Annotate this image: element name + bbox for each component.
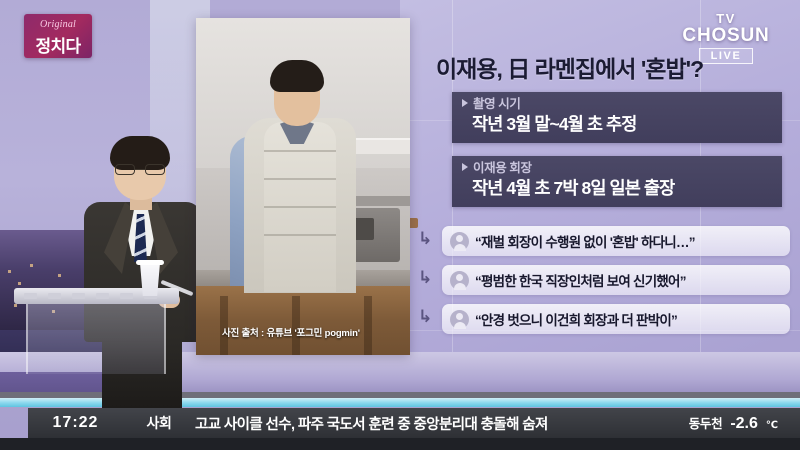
quote-row: ↳ “재벌 회장이 수행원 없이 '혼밥' 하다니…” <box>418 226 790 256</box>
news-photo-inset: 사진 출처 : 유튜브 '포그민 pogmin' <box>196 18 410 355</box>
photo-wood-counter <box>196 286 410 355</box>
weather-temperature: -2.6 <box>730 415 758 433</box>
weather-city: 동두천 <box>689 413 723 432</box>
arrow-down-right-icon: ↳ <box>418 230 434 248</box>
quote-row: ↳ “평범한 한국 직장인처럼 보여 신기했어” <box>418 265 790 295</box>
person-avatar-icon <box>450 310 469 329</box>
arrow-down-right-icon: ↳ <box>418 269 434 287</box>
quote-bubble: “안경 벗으니 이건희 회장과 더 판박이” <box>442 304 790 334</box>
weather-widget: 동두천 -2.6 ℃ <box>689 413 800 433</box>
triangle-bullet-icon <box>462 163 468 171</box>
quote-bubble: “평범한 한국 직장인처럼 보여 신기했어” <box>442 265 790 295</box>
triangle-bullet-icon <box>462 99 468 107</box>
info-box-label: 촬영 시기 <box>462 96 772 113</box>
page-title: 이재용, 日 라멘집에서 '혼밥'? <box>436 50 796 84</box>
person-avatar-icon <box>450 232 469 251</box>
photo-subject-hair <box>270 60 324 92</box>
network-logo-line1: TV <box>666 12 786 26</box>
network-logo-line2: CHOSUN <box>666 26 786 46</box>
person-avatar-icon <box>450 271 469 290</box>
photo-source-caption: 사진 출처 : 유튜브 '포그민 pogmin' <box>222 325 360 339</box>
quote-text: “평범한 한국 직장인처럼 보여 신기했어” <box>475 270 686 290</box>
arrow-down-right-icon: ↳ <box>418 308 434 326</box>
ticker-footer-bar <box>0 438 800 450</box>
program-logo-name: 정치다 <box>24 32 92 57</box>
quote-row: ↳ “안경 벗으니 이건희 회장과 더 판박이” <box>418 304 790 334</box>
news-ticker: 17:22 사회 고교 사이클 선수, 파주 국도서 훈련 중 중앙분리대 충돌… <box>28 408 800 438</box>
ticker-category: 사회 <box>123 413 195 433</box>
info-box-value: 작년 3월 말~4월 초 추정 <box>462 113 772 136</box>
info-box-label: 이재용 회장 <box>462 160 772 177</box>
ticker-time: 17:22 <box>28 414 123 432</box>
paper-cup-rim <box>136 260 164 265</box>
photo-subject-vest <box>264 122 336 292</box>
glasses-icon <box>114 164 166 175</box>
info-box-value: 작년 4월 초 7박 8일 일본 출장 <box>462 177 772 200</box>
broadcast-screen: 사진 출처 : 유튜브 '포그민 pogmin' Original 정치다 TV… <box>0 0 800 450</box>
quote-text: “재벌 회장이 수행원 없이 '혼밥' 하다니…” <box>475 231 695 251</box>
quote-bubble: “재벌 회장이 수행원 없이 '혼밥' 하다니…” <box>442 226 790 256</box>
podium-base <box>26 304 166 374</box>
quote-text: “안경 벗으니 이건희 회장과 더 판박이” <box>475 309 677 329</box>
info-box-chairman-trip: 이재용 회장 작년 4월 초 7박 8일 일본 출장 <box>452 156 782 207</box>
ticker-headline: 고교 사이클 선수, 파주 국도서 훈련 중 중앙분리대 충돌해 숨져 <box>195 413 689 434</box>
weather-unit: ℃ <box>766 420 778 431</box>
program-logo: Original 정치다 <box>24 14 92 58</box>
info-box-shooting-period: 촬영 시기 작년 3월 말~4월 초 추정 <box>452 92 782 143</box>
program-logo-script: Original <box>24 19 92 30</box>
